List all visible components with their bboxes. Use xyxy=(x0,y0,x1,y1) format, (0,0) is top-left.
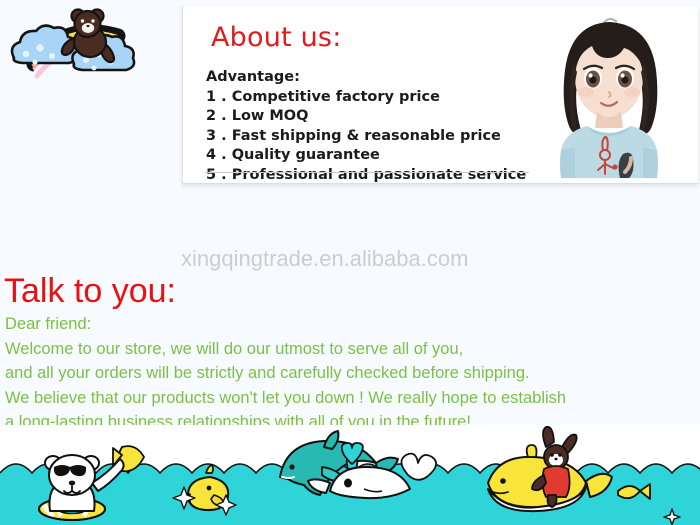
promo-banner-page: About us: Advantage: 1 . Competitive fac… xyxy=(0,0,700,525)
about-us-panel: About us: Advantage: 1 . Competitive fac… xyxy=(182,6,698,184)
talk-line-4: We believe that our products won't let y… xyxy=(5,386,695,411)
advantage-text-2: Low MOQ xyxy=(232,108,309,124)
advantage-number-4: 4 . xyxy=(206,146,227,166)
advantage-number-5: 5 . xyxy=(206,166,227,186)
talk-to-you-body: Dear friend: Welcome to our store, we wi… xyxy=(5,312,695,435)
advantage-text-4: Quality guarantee xyxy=(232,147,380,163)
advantage-number-3: 3 . xyxy=(206,127,227,147)
girl-illustration xyxy=(529,6,689,178)
about-us-title: About us: xyxy=(211,22,342,53)
advantage-text-1: Competitive factory price xyxy=(232,89,440,105)
advantage-number-1: 1 . xyxy=(206,88,227,108)
advantage-number-2: 2 . xyxy=(206,107,227,127)
site-watermark: xingqingtrade.en.alibaba.com xyxy=(181,246,468,272)
advantage-text-5: Professional and passionate service xyxy=(232,167,526,183)
talk-line-1: Dear friend: xyxy=(5,312,695,337)
advantage-text-3: Fast shipping & reasonable price xyxy=(232,128,501,144)
rainbow-bear-logo xyxy=(2,2,162,88)
talk-to-you-title: Talk to you: xyxy=(4,272,176,311)
ocean-footer-illustration xyxy=(0,425,700,525)
talk-line-2: Welcome to our store, we will do our utm… xyxy=(5,337,695,362)
talk-line-3: and all your orders will be strictly and… xyxy=(5,361,695,386)
